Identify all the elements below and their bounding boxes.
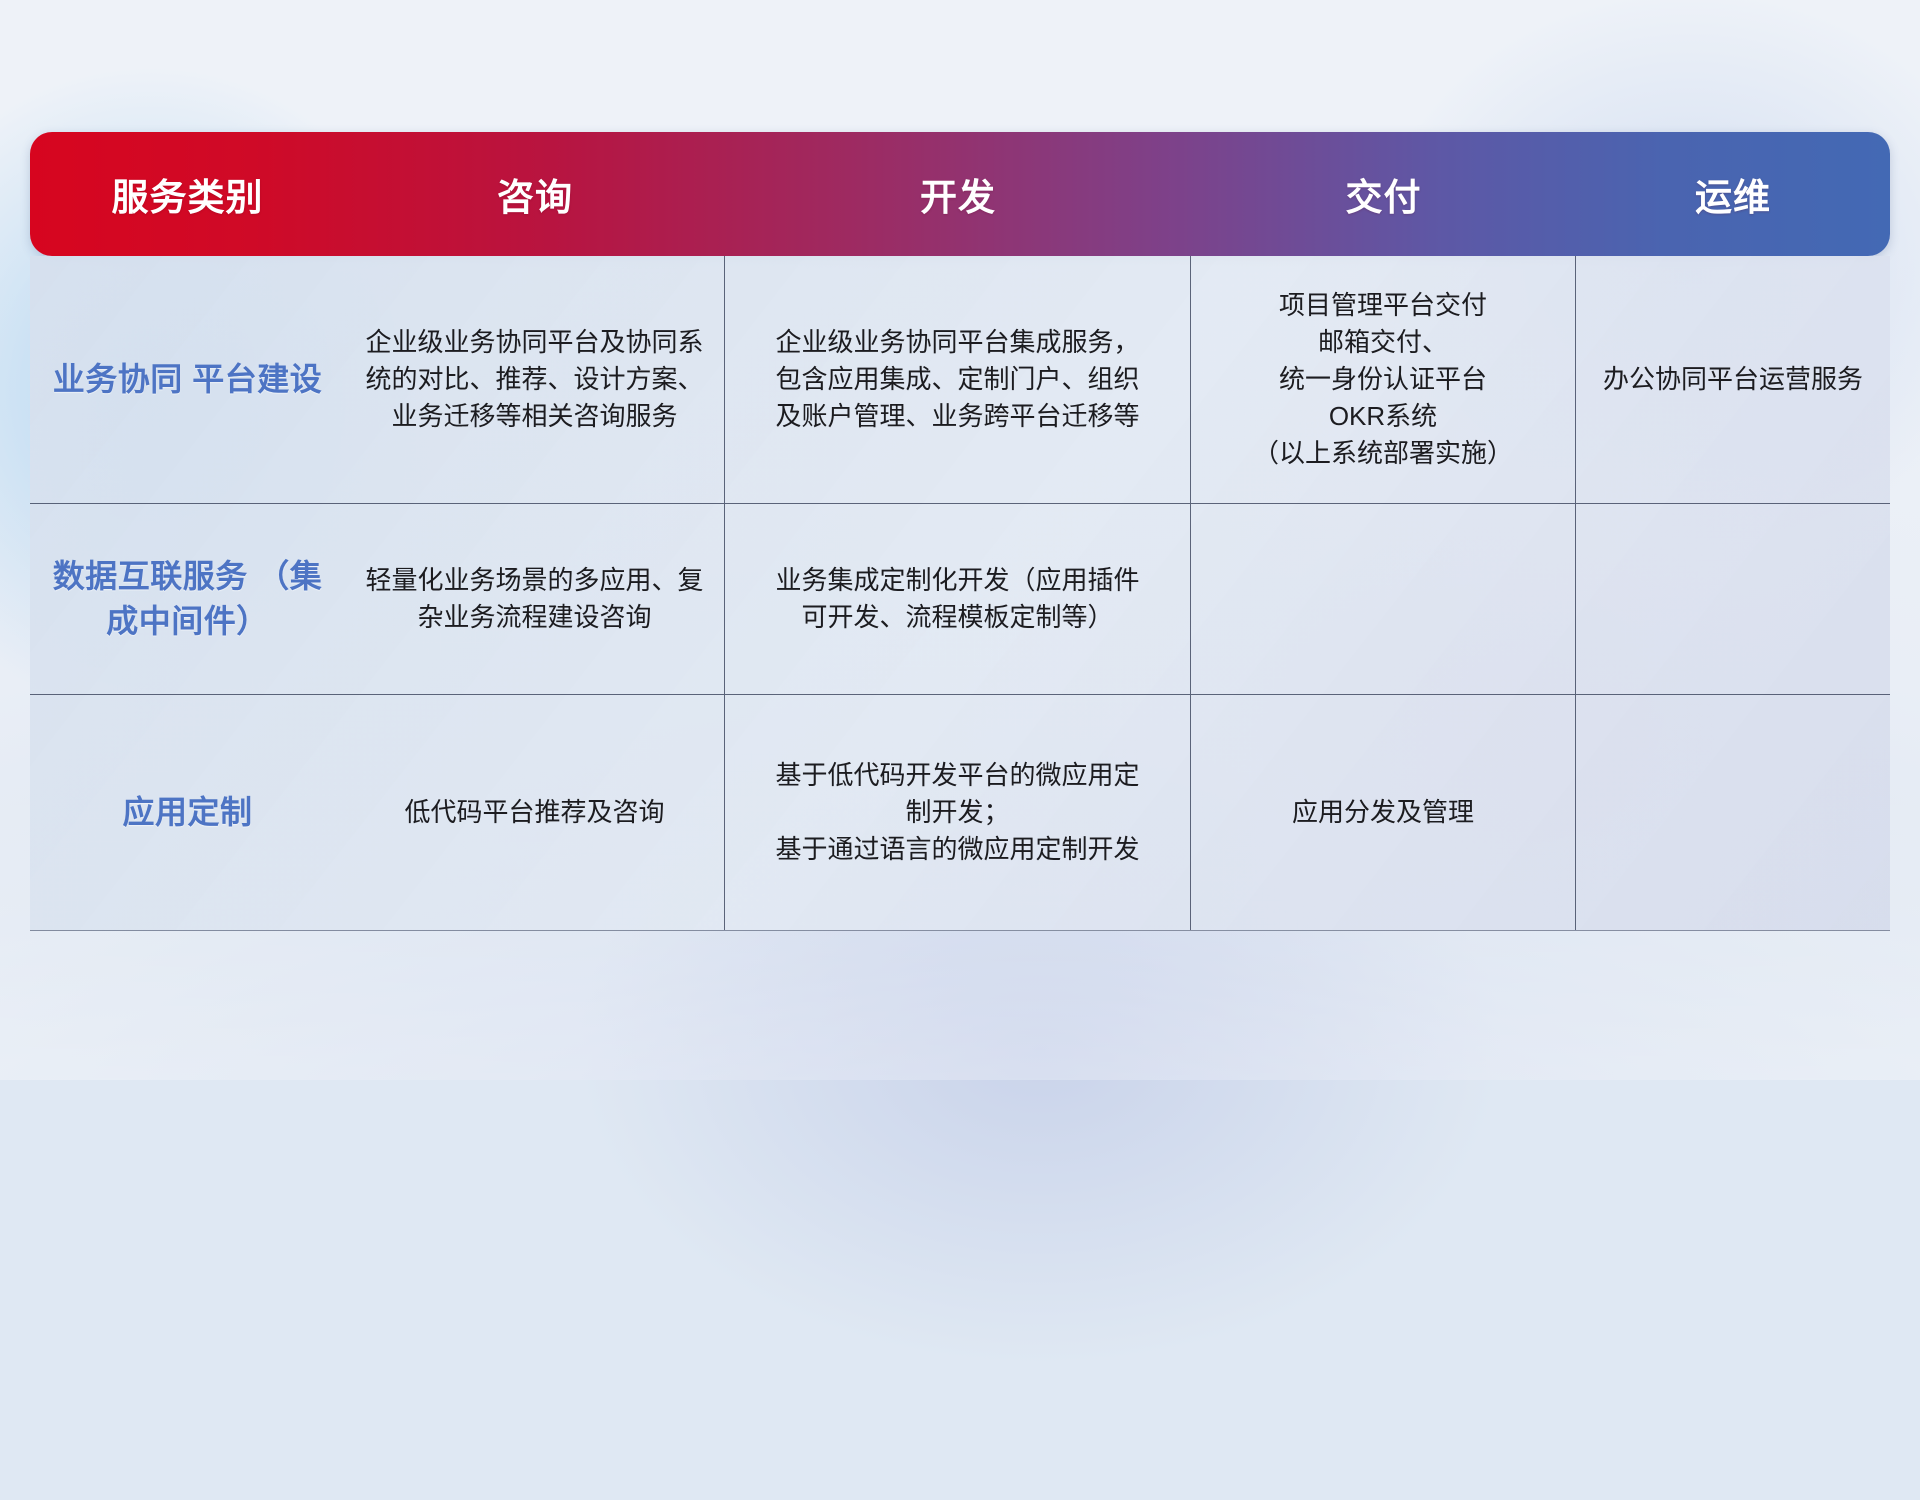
cell-text: 低代码平台推荐及咨询: [404, 794, 664, 831]
cell-text: 企业级业务协同平台及协同系 统的对比、推荐、设计方案、 业务迁移等相关咨询服务: [365, 324, 703, 435]
column-header-operations: 运维: [1576, 132, 1890, 256]
cell-operations: 办公协同平台运营服务: [1576, 256, 1890, 503]
table-body: 业务协同 平台建设 企业级业务协同平台及协同系 统的对比、推荐、设计方案、 业务…: [30, 256, 1890, 931]
cell-development: 企业级业务协同平台集成服务， 包含应用集成、定制门户、组织 及账户管理、业务跨平…: [725, 256, 1191, 503]
cell-text: 项目管理平台交付 邮箱交付、 统一身份认证平台 OKR系统 （以上系统部署实施）: [1253, 287, 1513, 472]
table-header-row: 服务类别 咨询 开发 交付 运维: [30, 132, 1890, 256]
table-row: 应用定制 低代码平台推荐及咨询 基于低代码开发平台的微应用定 制开发； 基于通过…: [30, 695, 1890, 930]
cell-text: 企业级业务协同平台集成服务， 包含应用集成、定制门户、组织 及账户管理、业务跨平…: [775, 324, 1139, 435]
row-category-cell: 业务协同 平台建设: [30, 256, 345, 503]
table-row: 数据互联服务 （集成中间件） 轻量化业务场景的多应用、复 杂业务流程建设咨询 业…: [30, 504, 1890, 695]
cell-text: 基于低代码开发平台的微应用定 制开发； 基于通过语言的微应用定制开发: [775, 757, 1139, 868]
cell-text: 业务集成定制化开发（应用插件 可开发、流程模板定制等）: [775, 562, 1139, 636]
cell-delivery: 项目管理平台交付 邮箱交付、 统一身份认证平台 OKR系统 （以上系统部署实施）: [1191, 256, 1576, 503]
cell-delivery: [1191, 504, 1576, 694]
cell-text: 轻量化业务场景的多应用、复 杂业务流程建设咨询: [365, 562, 703, 636]
row-category-label: 数据互联服务 （集成中间件）: [44, 554, 331, 645]
cell-consulting: 低代码平台推荐及咨询: [345, 695, 725, 930]
cell-operations: [1576, 695, 1890, 930]
row-category-cell: 数据互联服务 （集成中间件）: [30, 504, 345, 694]
cell-operations: [1576, 504, 1890, 694]
column-header-consulting: 咨询: [345, 132, 725, 256]
table-row: 业务协同 平台建设 企业级业务协同平台及协同系 统的对比、推荐、设计方案、 业务…: [30, 256, 1890, 504]
row-category-cell: 应用定制: [30, 695, 345, 930]
row-category-label: 业务协同 平台建设: [53, 357, 322, 402]
column-header-category: 服务类别: [30, 132, 345, 256]
cell-development: 业务集成定制化开发（应用插件 可开发、流程模板定制等）: [725, 504, 1191, 694]
service-matrix-table: 服务类别 咨询 开发 交付 运维 业务协同 平台建设 企业级业务协同平台及协同系…: [30, 132, 1890, 931]
column-header-delivery: 交付: [1191, 132, 1576, 256]
cell-delivery: 应用分发及管理: [1191, 695, 1576, 930]
cell-text: 办公协同平台运营服务: [1603, 361, 1863, 398]
row-category-label: 应用定制: [122, 790, 252, 835]
cell-consulting: 轻量化业务场景的多应用、复 杂业务流程建设咨询: [345, 504, 725, 694]
column-header-development: 开发: [725, 132, 1191, 256]
cell-text: 应用分发及管理: [1292, 794, 1474, 831]
cell-consulting: 企业级业务协同平台及协同系 统的对比、推荐、设计方案、 业务迁移等相关咨询服务: [345, 256, 725, 503]
cell-development: 基于低代码开发平台的微应用定 制开发； 基于通过语言的微应用定制开发: [725, 695, 1191, 930]
